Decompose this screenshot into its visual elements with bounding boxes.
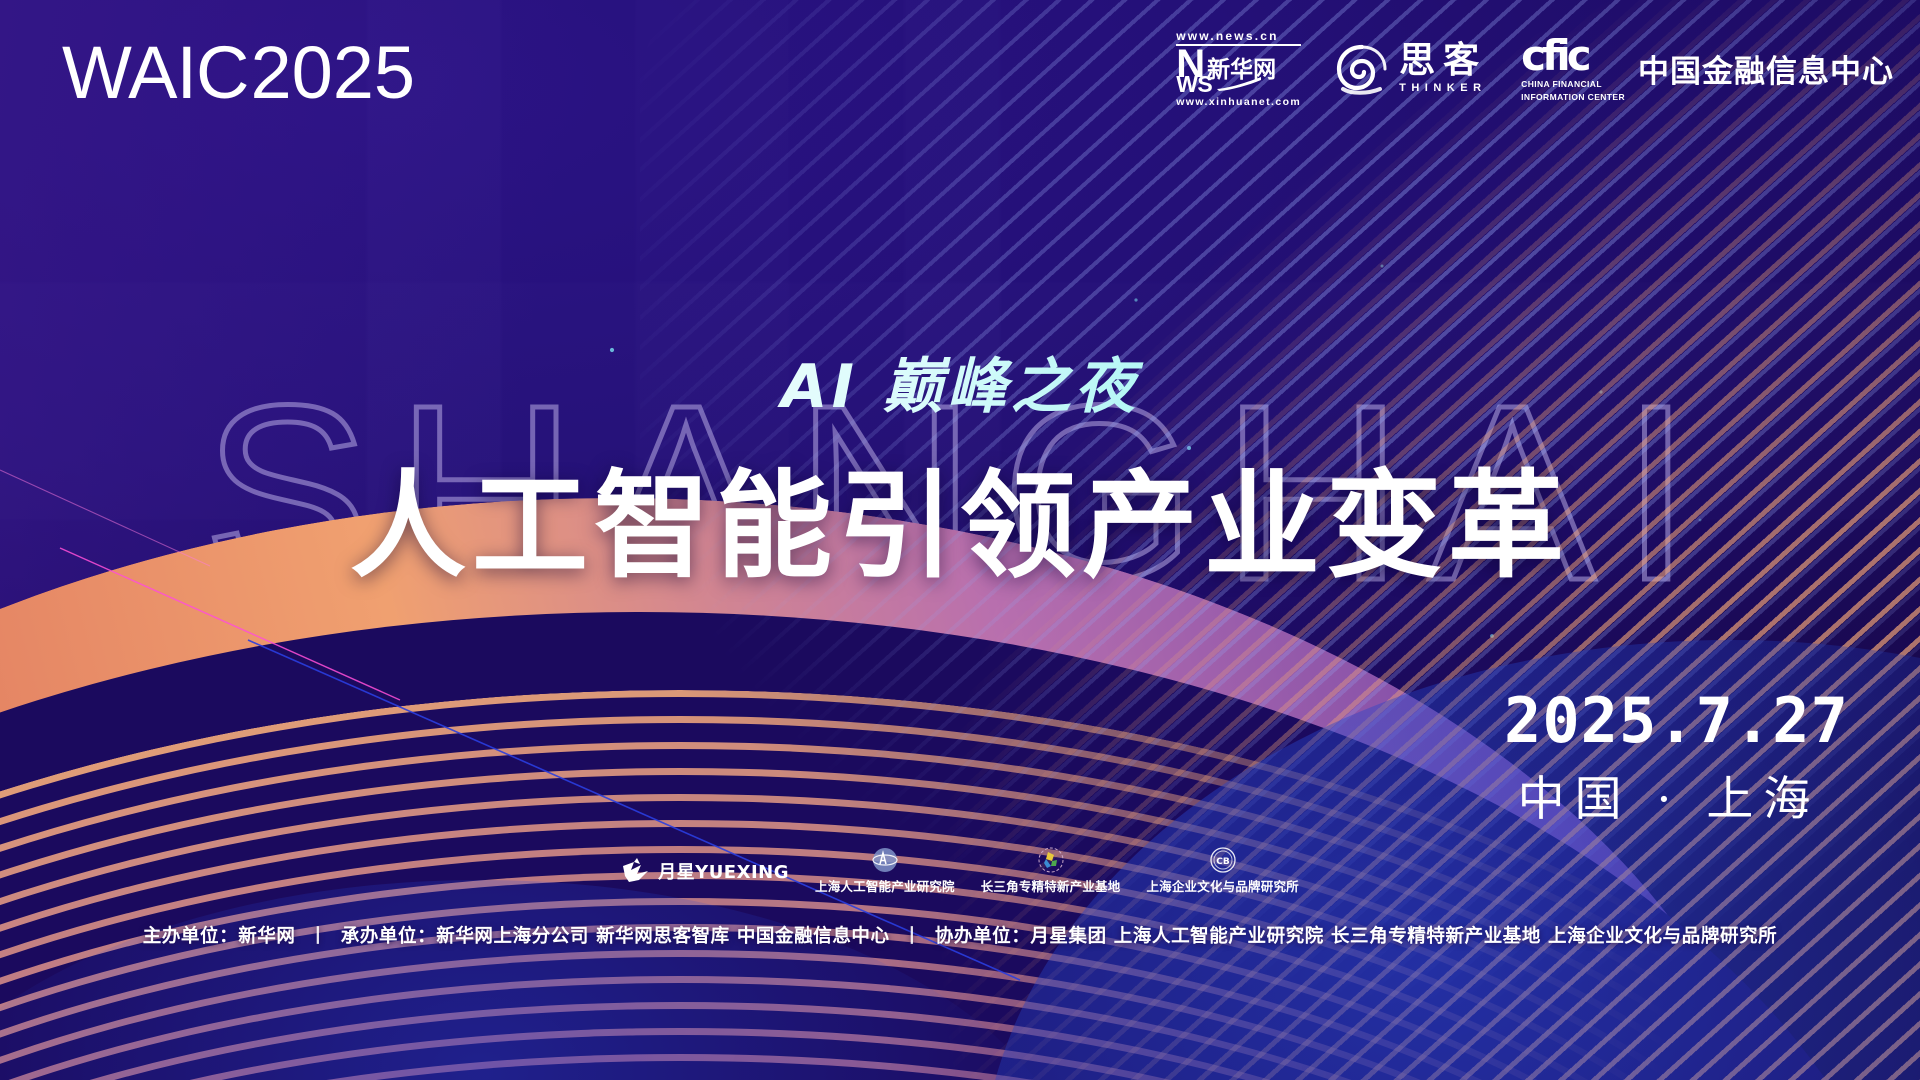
cfic-logo: cfic CHINA FINANCIAL INFORMATION CENTER … (1521, 35, 1894, 102)
credits-line: 主办单位：新华网 丨 承办单位：新华网上海分公司 新华网思客智库 中国金融信息中… (0, 922, 1920, 948)
credits-coorganizer: 协办单位：月星集团 上海人工智能产业研究院 长三角专精特新产业基地 上海企业文化… (935, 926, 1777, 947)
sponsor-yangtze-delta-base-label: 长三角专精特新产业基地 (981, 876, 1121, 895)
sponsor-yangtze-delta-base: 长三角专精特新产业基地 (981, 846, 1121, 895)
cfic-mark: cfic (1521, 35, 1625, 77)
thinker-text-block: 思客 THINKER (1399, 43, 1487, 94)
sponsor-shanghai-ai-institute-label: 上海人工智能产业研究院 (815, 876, 955, 895)
cfic-mark-block: cfic CHINA FINANCIAL INFORMATION CENTER (1521, 35, 1625, 102)
xinhua-letter-ws: WS (1176, 73, 1212, 96)
event-headline: 人工智能引领产业变革 (0, 432, 1920, 600)
event-subtitle: AI 巅峰之夜 (0, 338, 1920, 425)
waic-logo: WAIC 2025 (62, 36, 415, 110)
credits-separator-1: 丨 (303, 926, 334, 947)
credits-host: 主办单位：新华网 (143, 926, 296, 947)
waic-logo-year: 2025 (250, 36, 415, 110)
xinhua-bottom-url: www.xinhuanet.com (1176, 97, 1301, 108)
sponsor-shanghai-ai-institute: 上海人工智能产业研究院 (815, 846, 955, 895)
sponsor-yuexing-label: 月星YUEXING (658, 858, 789, 884)
yangtze-delta-base-map-icon (1037, 846, 1065, 874)
shanghai-culture-brand-institute-seal-icon: CB (1209, 846, 1237, 874)
event-location: 中国 · 上海 (1504, 776, 1834, 823)
thinker-name-cn: 思客 (1399, 43, 1487, 79)
sponsor-shanghai-culture-brand-institute: CB 上海企业文化与品牌研究所 (1146, 846, 1298, 895)
thinker-name-en: THINKER (1399, 83, 1487, 94)
xinhua-top-url: www.news.cn (1176, 30, 1278, 42)
credits-separator-2: 丨 (897, 926, 928, 947)
yuexing-bird-icon (621, 858, 651, 884)
thinker-logo: 思客 THINKER (1335, 42, 1487, 96)
svg-text:CB: CB (1216, 857, 1230, 867)
cfic-name-cn: 中国金融信息中心 (1638, 46, 1894, 91)
poster-canvas: SHANGHAI WAIC 2025 www.news.cn N 新华网 (0, 0, 1920, 1080)
thinker-spiral-icon (1335, 42, 1389, 96)
partner-logo-group: www.news.cn N 新华网 WS www.xinhuanet.com (1176, 30, 1894, 107)
xinhua-lower-row: WS (1176, 73, 1262, 96)
date-location-block: 2025.7.27 中国 · 上海 (1504, 690, 1834, 823)
credits-organizer: 承办单位：新华网上海分公司 新华网思客智库 中国金融信息中心 (341, 926, 890, 947)
shanghai-ai-institute-globe-icon (871, 846, 899, 874)
sponsor-shanghai-culture-brand-institute-label: 上海企业文化与品牌研究所 (1146, 876, 1298, 895)
sponsor-yuexing: 月星YUEXING (621, 858, 789, 884)
cfic-name-en-line2: INFORMATION CENTER (1521, 92, 1625, 103)
cfic-name-en-line1: CHINA FINANCIAL (1521, 79, 1625, 90)
xinhua-swoosh-icon (1216, 77, 1262, 91)
event-date: 2025.7.27 (1504, 690, 1834, 752)
sponsor-logo-row: 月星YUEXING 上海人工智能产业研究院 长三角专精特新产业基地 (0, 846, 1920, 895)
waic-logo-word: WAIC (62, 36, 248, 110)
poster-header: WAIC 2025 www.news.cn N 新华网 WS www.xinhu… (0, 0, 1920, 140)
xinhua-logo: www.news.cn N 新华网 WS www.xinhuanet.com (1176, 30, 1301, 107)
